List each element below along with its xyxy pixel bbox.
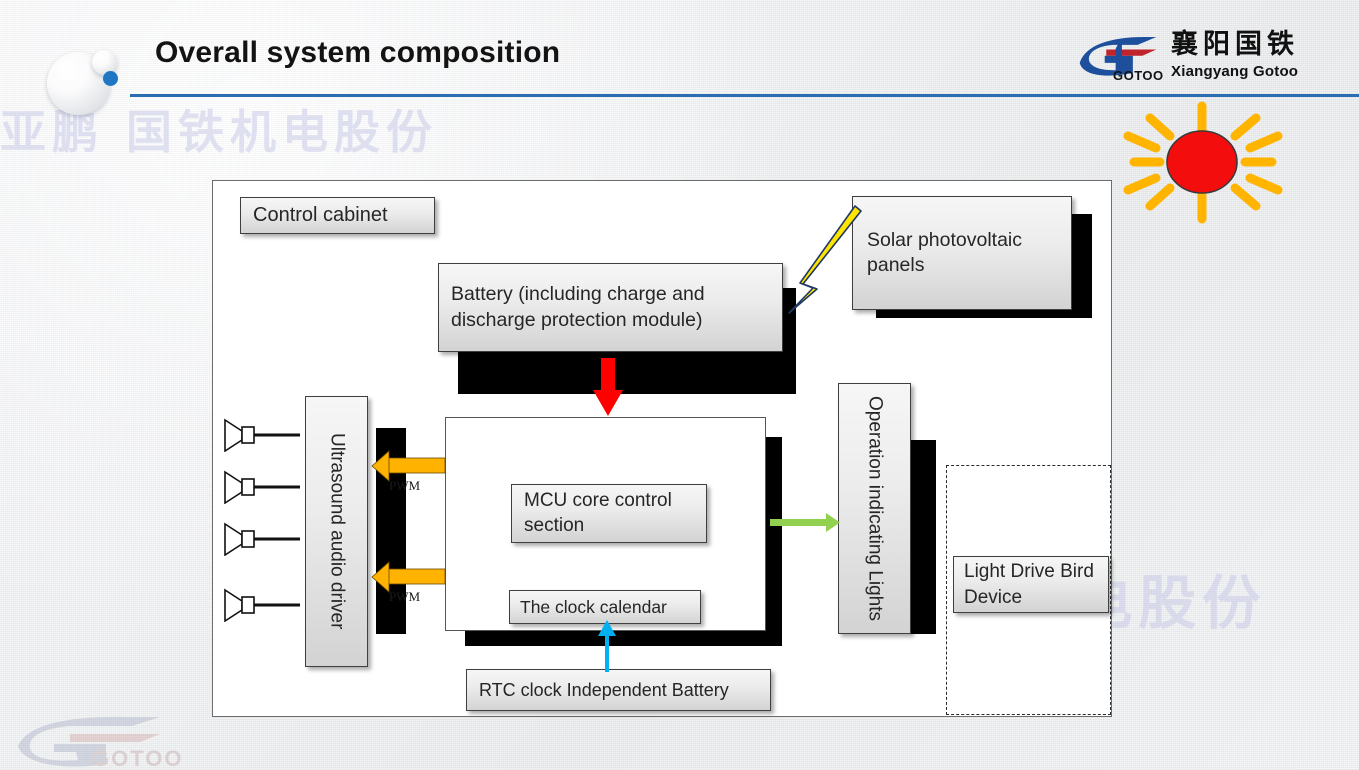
light-drive-bird-label: Light Drive Bird Device	[964, 559, 1098, 609]
pwm-label-1: PWM	[389, 478, 420, 494]
page-title: Overall system composition	[155, 36, 560, 70]
title-underline	[130, 94, 1359, 97]
ultrasound-driver-label: Ultrasound audio driver	[306, 397, 367, 666]
rtc-battery-box[interactable]: RTC clock Independent Battery	[466, 669, 771, 711]
speaker-icon	[222, 418, 300, 452]
control-cabinet-label: Control cabinet	[253, 204, 422, 227]
speaker-icon	[222, 470, 300, 504]
battery-box[interactable]: Battery (including charge and discharge …	[438, 263, 783, 352]
speaker-icon	[222, 522, 300, 556]
clock-calendar-box[interactable]: The clock calendar	[509, 590, 701, 624]
ultrasound-driver-box[interactable]: Ultrasound audio driver	[305, 396, 368, 667]
brand-logo: GOTOO 襄阳国铁 Xiangyang Gotoo	[1075, 25, 1299, 85]
clock-calendar-label: The clock calendar	[520, 597, 690, 618]
brand-name-cn: 襄阳国铁	[1171, 31, 1299, 58]
battery-label: Battery (including charge and discharge …	[451, 282, 770, 333]
decorative-blue-dot	[103, 71, 118, 86]
brand-gotoo-word: GOTOO	[1113, 68, 1164, 83]
operation-lights-box[interactable]: Operation indicating Lights	[838, 383, 911, 634]
operation-lights-label: Operation indicating Lights	[839, 384, 910, 633]
solar-panels-box[interactable]: Solar photovoltaic panels	[852, 196, 1072, 310]
rtc-battery-label: RTC clock Independent Battery	[479, 680, 758, 701]
light-drive-bird-box[interactable]: Light Drive Bird Device	[953, 556, 1109, 613]
speaker-icon	[222, 588, 300, 622]
slide-canvas: 亚鹏 国铁机电股份 郝亚鹏 国铁机电股份 郝亚鹏 国铁机电股份 GOTOO Ov…	[0, 0, 1359, 769]
sun-icon	[1120, 100, 1285, 225]
svg-text:GOTOO: GOTOO	[92, 746, 184, 770]
mcu-core-label: MCU core control section	[524, 489, 694, 538]
pwm-label-2: PWM	[389, 589, 420, 605]
solar-panels-label: Solar photovoltaic panels	[867, 228, 1057, 279]
gotoo-watermark-logo: GOTOO	[10, 712, 210, 770]
brand-name-en: Xiangyang Gotoo	[1171, 64, 1299, 79]
mcu-core-box[interactable]: MCU core control section	[511, 484, 707, 543]
control-cabinet-box[interactable]: Control cabinet	[240, 197, 435, 234]
